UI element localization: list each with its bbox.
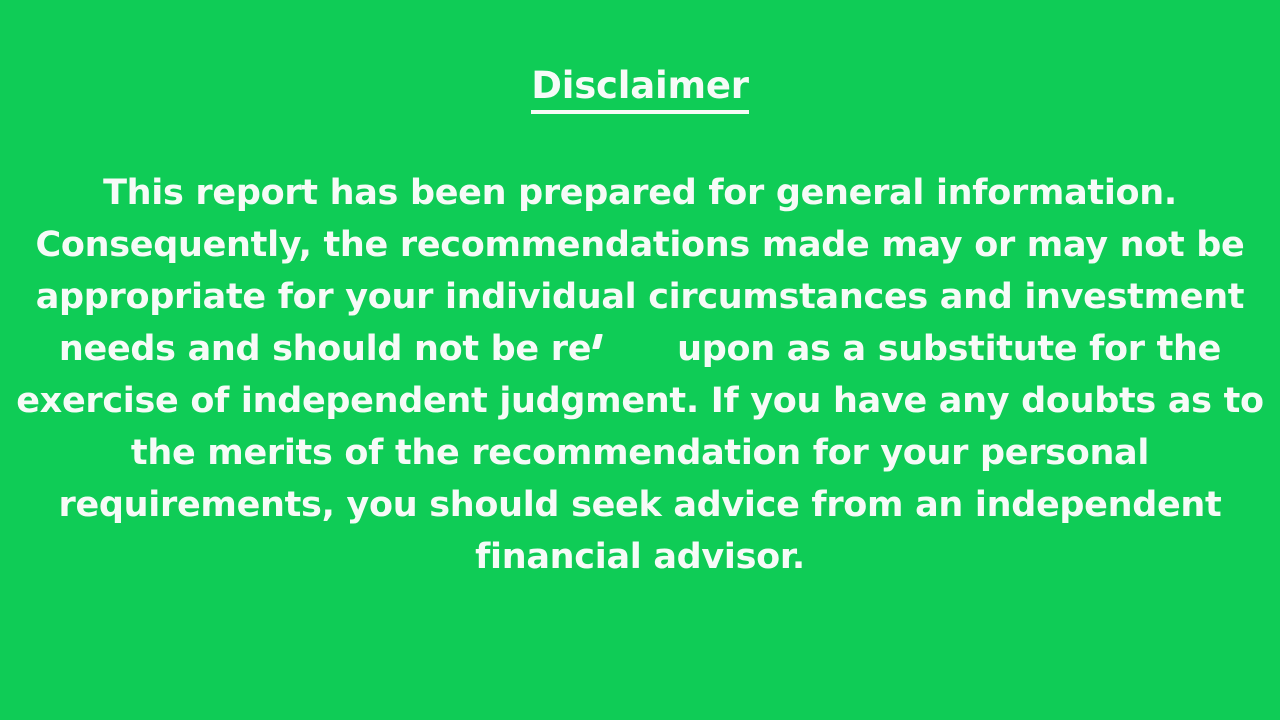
body-line-4: needs and should not be reupon as a subs…: [14, 323, 1266, 375]
clipped-letter-artifact: e: [621, 375, 644, 427]
body-line-4-before: needs and should not be re: [59, 329, 591, 369]
title-block: Disclaimer: [0, 64, 1280, 114]
page-title: Disclaimer: [531, 64, 749, 114]
body-line-7: requirements, you should seek advice fro…: [14, 479, 1266, 531]
occluded-word-relied: [591, 323, 677, 375]
stroke-remnant-artifact: [592, 338, 603, 364]
disclaimer-slide: Disclaimer This report has been prepared…: [0, 0, 1280, 720]
body-line-5-after: nt. If you have any doubts as to: [645, 381, 1264, 421]
body-line-3: appropriate for your individual circumst…: [14, 271, 1266, 323]
body-line-5: exercise of independent judgment. If you…: [14, 375, 1266, 427]
body-line-8: financial advisor.: [14, 531, 1266, 583]
body-line-1: This report has been prepared for genera…: [14, 167, 1266, 219]
body-line-2: Consequently, the recommendations made m…: [14, 219, 1266, 271]
disclaimer-body: This report has been prepared for genera…: [14, 167, 1266, 583]
body-line-6: the merits of the recommendation for you…: [14, 427, 1266, 479]
body-line-5-before: exercise of independent judgm: [16, 381, 621, 421]
body-line-4-after: upon as a substitute for the: [677, 329, 1221, 369]
